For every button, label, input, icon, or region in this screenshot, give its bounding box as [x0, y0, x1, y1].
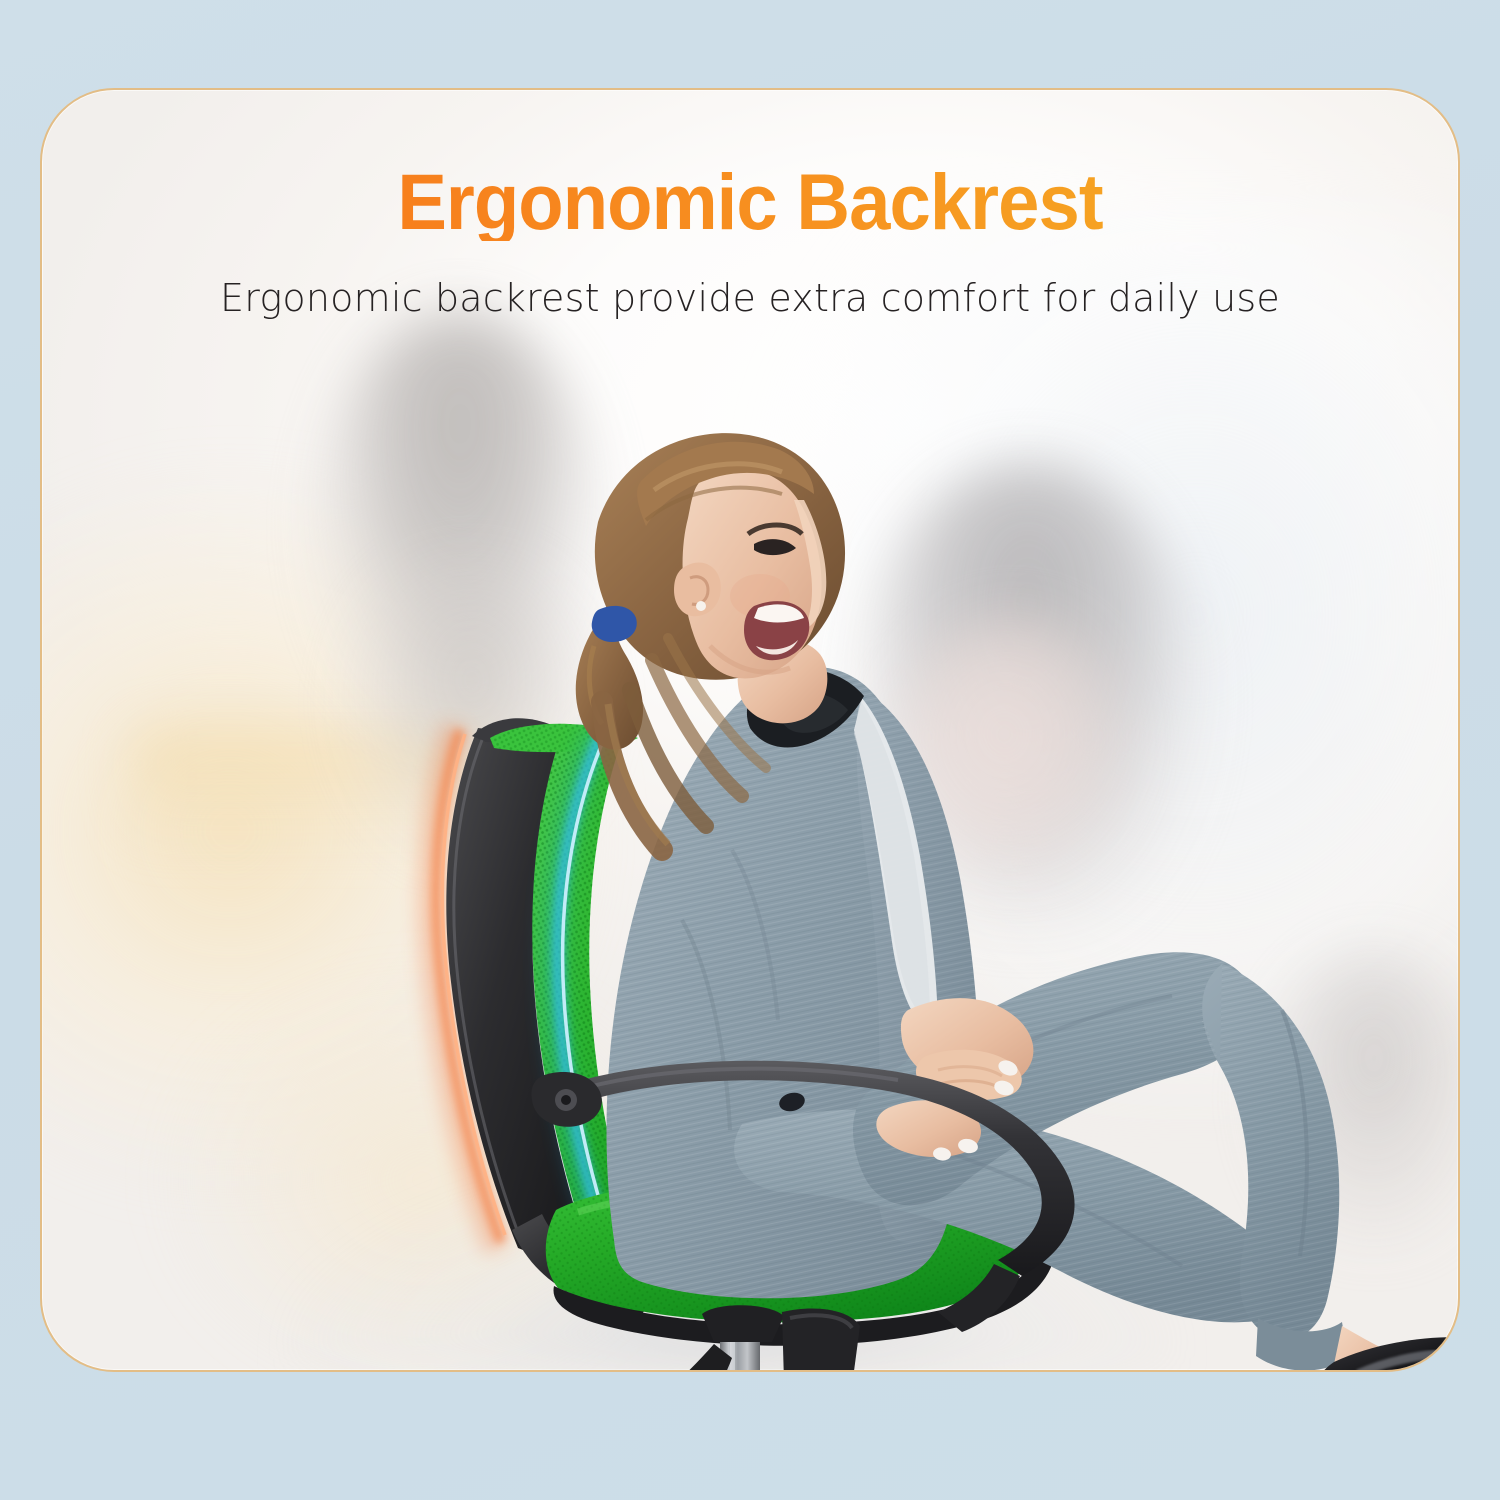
banner-stage: Ergonomic Backrest Ergonomic backrest pr… [0, 0, 1500, 1500]
page-title: Ergonomic Backrest [45, 162, 1455, 241]
background-person-left-body [342, 560, 602, 860]
background-person-center-face [894, 610, 1134, 880]
page-subtitle: Ergonomic backrest provide extra comfort… [0, 278, 1500, 320]
floor-shadow [282, 1160, 1182, 1370]
